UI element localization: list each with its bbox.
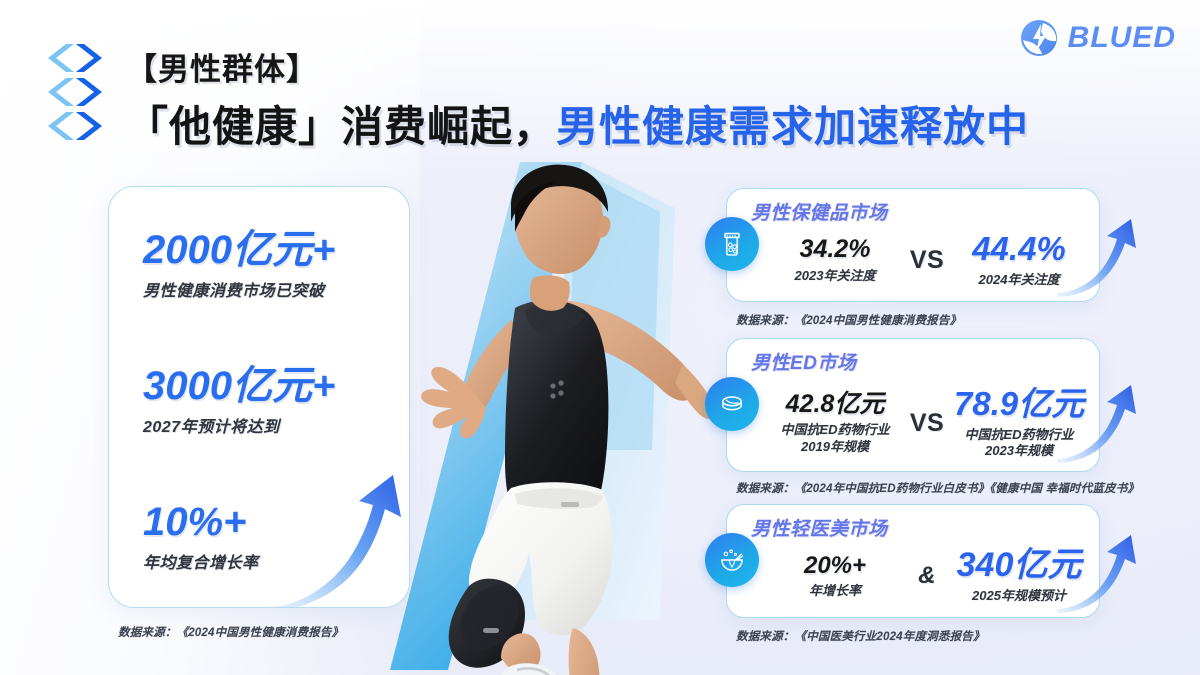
double-chevron-right-icon xyxy=(48,78,74,106)
source-note-card-2: 数据来源：《2024年中国抗ED药物行业白皮书》《健康中国 幸福时代蓝皮书》 xyxy=(736,480,1139,496)
metric-caption: 中国抗ED药物行业2019年规模 xyxy=(780,422,889,455)
page-title: 「他健康」消费崛起，男性健康需求加速释放中 xyxy=(126,93,1029,154)
metric-before: 42.8亿元 中国抗ED药物行业2019年规模 xyxy=(769,391,901,455)
market-card-body: 42.8亿元 中国抗ED药物行业2019年规模 VS 78.9亿元 中国抗ED药… xyxy=(769,383,1085,463)
metric-caption: 中国抗ED药物行业2023年规模 xyxy=(964,427,1073,460)
supplement-bottle-glyph xyxy=(718,230,746,258)
blued-lightning-logo-icon xyxy=(1019,18,1059,58)
market-card-body: 20%+ 年增长率 & 340亿元 2025年规模预计 xyxy=(769,543,1085,609)
comparison-separator: VS xyxy=(901,409,953,438)
page-eyebrow: 【男性群体】 xyxy=(126,44,318,89)
chevron-row xyxy=(48,44,134,72)
brand-logo-text: BLUED xyxy=(1068,21,1176,55)
comparison-separator: & xyxy=(901,562,953,590)
metric-before: 20%+ 年增长率 xyxy=(769,553,901,599)
metric-caption: 年增长率 xyxy=(809,583,861,599)
tablet-pill-icon xyxy=(705,377,759,431)
page-title-black: 「他健康」消费崛起， xyxy=(126,103,556,150)
chevron-row xyxy=(48,112,134,140)
metric-after: 44.4% 2024年关注度 xyxy=(953,232,1085,288)
metric-value: 42.8亿元 xyxy=(786,391,885,417)
double-chevron-right-icon xyxy=(76,44,102,72)
double-chevron-right-icon xyxy=(76,78,102,106)
metric-after: 340亿元 2025年规模预计 xyxy=(953,548,1085,605)
source-note-left: 数据来源：《2024中国男性健康消费报告》 xyxy=(118,624,343,640)
chevron-decoration xyxy=(48,44,134,148)
market-card-title: 男性保健品市场 xyxy=(751,198,888,225)
left-stats-card: 2000亿元+ 男性健康消费市场已突破 3000亿元+ 2027年预计将达到 1… xyxy=(108,186,410,608)
page-title-blue: 男性健康需求加速释放中 xyxy=(556,103,1029,150)
brand-logo: BLUED xyxy=(1019,18,1176,58)
metric-value: 44.4% xyxy=(972,232,1066,267)
stat-value: 3000亿元+ xyxy=(143,365,335,407)
stat-label: 2027年预计将达到 xyxy=(143,413,335,437)
chevron-row xyxy=(48,78,134,106)
market-card-title: 男性ED市场 xyxy=(751,348,856,375)
growth-arrow-up-icon xyxy=(265,461,410,608)
source-note-card-1: 数据来源：《2024中国男性健康消费报告》 xyxy=(736,312,961,328)
market-card-ed: 男性ED市场 42.8亿元 中国抗ED药物行业2019年规模 VS 78.9亿元… xyxy=(726,338,1100,472)
stat-item: 3000亿元+ 2027年预计将达到 xyxy=(143,365,335,437)
market-card-title: 男性轻医美市场 xyxy=(751,514,888,541)
tablet-pill-glyph xyxy=(718,390,746,418)
stat-label: 年均复合增长率 xyxy=(143,549,259,573)
metric-caption: 2023年关注度 xyxy=(795,268,876,284)
metric-value: 78.9亿元 xyxy=(954,387,1084,422)
beauty-bowl-glyph xyxy=(718,546,746,574)
metric-after: 78.9亿元 中国抗ED药物行业2023年规模 xyxy=(953,387,1085,459)
stat-item: 10%+ 年均复合增长率 xyxy=(143,501,259,573)
stat-item: 2000亿元+ 男性健康消费市场已突破 xyxy=(143,229,335,301)
double-chevron-right-icon xyxy=(48,112,74,140)
metric-caption: 2025年规模预计 xyxy=(972,588,1066,604)
metric-value: 340亿元 xyxy=(957,548,1082,584)
market-card-aesthetics: 男性轻医美市场 20%+ 年增长率 & 340亿元 2025年规模预计 xyxy=(726,504,1100,618)
metric-caption: 2024年关注度 xyxy=(979,272,1060,288)
double-chevron-right-icon xyxy=(76,112,102,140)
stat-label: 男性健康消费市场已突破 xyxy=(143,277,335,301)
stat-value: 10%+ xyxy=(143,501,259,543)
metric-value: 20%+ xyxy=(804,553,866,578)
market-card-supplements: 男性保健品市场 34.2% 2023年关注度 VS 44.4 xyxy=(726,188,1100,302)
supplement-bottle-icon xyxy=(705,217,759,271)
metric-before: 34.2% 2023年关注度 xyxy=(769,236,901,284)
infographic-slide: 【男性群体】 「他健康」消费崛起，男性健康需求加速释放中 BLUED 2000亿… xyxy=(0,0,1200,675)
beauty-bowl-icon xyxy=(705,533,759,587)
running-man-photo xyxy=(365,150,725,675)
metric-value: 34.2% xyxy=(800,236,871,262)
comparison-separator: VS xyxy=(901,246,953,275)
source-note-card-3: 数据来源：《中国医美行业2024年度洞悉报告》 xyxy=(736,628,985,644)
market-card-body: 34.2% 2023年关注度 VS 44.4% 2024年关注度 xyxy=(769,227,1085,293)
stat-value: 2000亿元+ xyxy=(143,229,335,271)
double-chevron-right-icon xyxy=(48,44,74,72)
